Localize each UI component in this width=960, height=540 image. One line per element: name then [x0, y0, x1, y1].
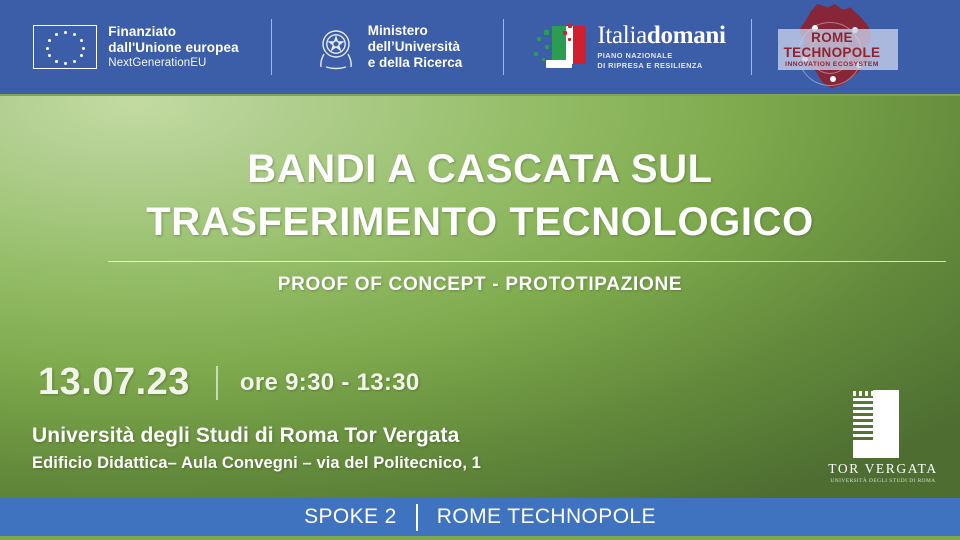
- ministry-logo: Ministero dell’Università e della Ricerc…: [272, 0, 504, 94]
- italia-domani-logo: Italiadomani PIANO NAZIONALE DI RIPRESA …: [504, 0, 752, 94]
- rome-technopole-line2: TECHNOPOLE: [752, 45, 912, 60]
- tor-vergata-subtitle: UNIVERSITÀ DEGLI STUDI DI ROMA: [828, 478, 938, 484]
- tor-vergata-column-icon: [847, 390, 919, 458]
- header-logo-bar: Finanziato dall'Unione europea NextGener…: [0, 0, 960, 94]
- rome-technopole-logo: ROME TECHNOPOLE INNOVATION ECOSYSTEM: [752, 0, 960, 94]
- footer-bottom-strip: [0, 536, 960, 540]
- eu-logo-line2: dall'Unione europea: [108, 40, 238, 56]
- italia-domani-wordmark: Italiadomani: [597, 23, 725, 48]
- footer-bar: SPOKE 2 ROME TECHNOPOLE: [0, 498, 960, 536]
- italia-domani-word2: domani: [647, 22, 726, 49]
- page-title: BANDI A CASCATA SUL TRASFERIMENTO TECNOL…: [0, 143, 960, 249]
- eu-flag-icon: [33, 25, 97, 69]
- ministry-line3: e della Ricerca: [368, 55, 463, 71]
- eu-logo-line3: NextGenerationEU: [108, 57, 238, 71]
- title-line-1: BANDI A CASCATA SUL: [0, 143, 960, 196]
- event-poster: Finanziato dall'Unione europea NextGener…: [0, 0, 960, 540]
- rome-technopole-line1: ROME: [752, 30, 912, 45]
- page-subtitle: PROOF OF CONCEPT - PROTOTIPAZIONE: [0, 274, 960, 296]
- ministry-line2: dell’Università: [368, 39, 463, 55]
- footer-program-label: ROME TECHNOPOLE: [437, 505, 656, 529]
- ministry-line1: Ministero: [368, 23, 463, 39]
- eu-logo-line1: Finanziato: [108, 24, 238, 40]
- header-bottom-edge: [0, 94, 960, 96]
- italian-flag-mosaic-icon: [530, 22, 588, 72]
- title-divider: [108, 261, 946, 262]
- footer-spoke-label: SPOKE 2: [304, 505, 397, 529]
- italia-domani-sub2: DI RIPRESA E RESILIENZA: [597, 61, 725, 71]
- rome-technopole-line3: INNOVATION ECOSYSTEM: [752, 61, 912, 68]
- footer-divider: [416, 504, 418, 531]
- datetime-divider: [216, 366, 218, 400]
- italia-domani-sub1: PIANO NAZIONALE: [597, 51, 725, 61]
- event-date: 13.07.23: [38, 361, 190, 404]
- event-datetime: 13.07.23 ore 9:30 - 13:30: [38, 361, 419, 404]
- tor-vergata-logo: TOR VERGATA UNIVERSITÀ DEGLI STUDI DI RO…: [828, 390, 938, 490]
- tor-vergata-name: TOR VERGATA: [828, 461, 938, 477]
- eu-funding-logo: Finanziato dall'Unione europea NextGener…: [0, 0, 272, 94]
- italia-domani-word1: Italia: [597, 22, 647, 49]
- venue-address: Edificio Didattica– Aula Convegni – via …: [32, 454, 481, 473]
- venue-institution: Università degli Studi di Roma Tor Verga…: [32, 424, 459, 448]
- title-line-2: TRASFERIMENTO TECNOLOGICO: [0, 196, 960, 249]
- event-time: ore 9:30 - 13:30: [240, 369, 420, 397]
- italian-republic-emblem-icon: [314, 24, 358, 70]
